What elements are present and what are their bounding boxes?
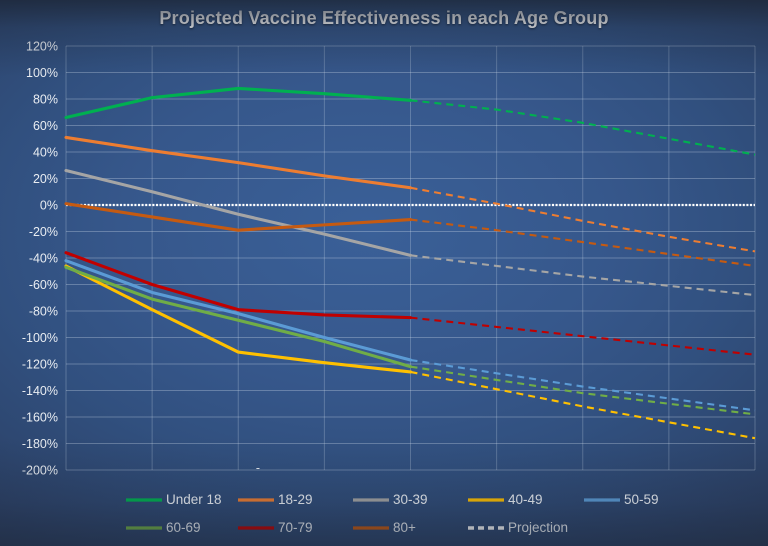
- y-axis-tick-label: 80%: [33, 93, 58, 107]
- legend-label-50-59[interactable]: 50-59: [624, 492, 659, 507]
- legend-label-60-69[interactable]: 60-69: [166, 520, 201, 535]
- y-axis-tick-label: -20%: [29, 225, 58, 239]
- y-axis-tick-label: -100%: [22, 331, 58, 345]
- y-axis-tick-label: 40%: [33, 146, 58, 160]
- y-axis-tick-label: 100%: [26, 66, 58, 80]
- chart-legend: Under 1818-2930-3940-4950-5960-6970-7980…: [126, 492, 659, 535]
- y-axis-tick-label: -160%: [22, 411, 58, 425]
- legend-label-projection[interactable]: Projection: [508, 520, 568, 535]
- legend-label-18-29[interactable]: 18-29: [278, 492, 313, 507]
- legend-label-under-18[interactable]: Under 18: [166, 492, 222, 507]
- y-axis-tick-labels: 120%100%80%60%40%20%0%-20%-40%-60%-80%-1…: [22, 40, 58, 478]
- y-axis-tick-label: 60%: [33, 119, 58, 133]
- y-axis-tick-label: -140%: [22, 384, 58, 398]
- y-axis-tick-label: 0%: [40, 199, 58, 213]
- y-axis-tick-label: -40%: [29, 252, 58, 266]
- y-axis-tick-label: -80%: [29, 305, 58, 319]
- y-axis-tick-label: -180%: [22, 437, 58, 451]
- line-chart-svg: 120%100%80%60%40%20%0%-20%-40%-60%-80%-1…: [0, 0, 768, 546]
- y-axis-tick-label: 120%: [26, 40, 58, 54]
- gridlines-group: [66, 46, 755, 470]
- legend-label-40-49[interactable]: 40-49: [508, 492, 543, 507]
- legend-label-70-79[interactable]: 70-79: [278, 520, 313, 535]
- y-axis-tick-label: -60%: [29, 278, 58, 292]
- y-axis-tick-label: 20%: [33, 172, 58, 186]
- y-axis-tick-label: -120%: [22, 358, 58, 372]
- legend-label-30-39[interactable]: 30-39: [393, 492, 428, 507]
- legend-label-80-[interactable]: 80+: [393, 520, 416, 535]
- chart-screenshot: Projected Vaccine Effectiveness in each …: [0, 0, 768, 546]
- y-axis-tick-label: -200%: [22, 464, 58, 478]
- x-axis-tick-label: -: [256, 461, 260, 475]
- x-axis-stray-label: -: [256, 461, 260, 475]
